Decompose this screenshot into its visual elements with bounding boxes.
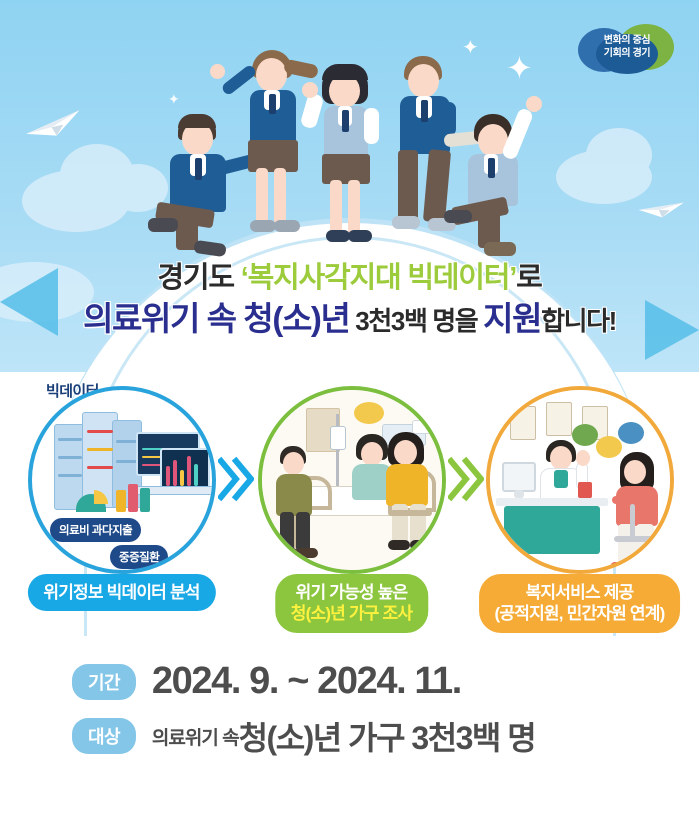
headline-line-2: 의료위기 속 청(소)년 3천3백 명을 지원합니다! xyxy=(0,299,699,339)
step-2-caption-line-1: 위기 가능성 높은 xyxy=(291,582,412,603)
headline-l1-part-2: ‘복지사각지대 빅데이터’ xyxy=(241,262,516,294)
cloud-right-icon xyxy=(556,150,652,204)
target-value-main: 청(소)년 가구 3천3백 명 xyxy=(239,713,536,759)
headline-l1-part-3: 로 xyxy=(516,262,541,294)
target-value-prefix: 의료위기 속 xyxy=(152,723,239,750)
headline-l2-part-2: 3천3백 명을 xyxy=(349,306,483,336)
headline: 경기도 ‘복지사각지대 빅데이터’로 의료위기 속 청(소)년 3천3백 명을 … xyxy=(0,262,699,339)
step-3-caption-line-2: (공적지원, 민간자원 연계) xyxy=(495,603,665,624)
students-illustration xyxy=(140,36,570,268)
poster-root: ✦ ✦ ✦ 변화의 중심 기회의 경기 xyxy=(0,0,699,826)
step-2-illustration xyxy=(258,386,446,574)
logo-line-1: 변화의 중심 xyxy=(578,34,676,47)
chevron-right-green-icon xyxy=(448,456,484,502)
step-3-illustration xyxy=(486,386,674,574)
step-2-caption-line-2: 청(소)년 가구 조사 xyxy=(291,603,412,624)
headline-line-1: 경기도 ‘복지사각지대 빅데이터’로 xyxy=(0,262,699,295)
info-row-target: 대상 의료위기 속 청(소)년 가구 3천3백 명 xyxy=(0,713,699,759)
chevron-right-blue-icon xyxy=(218,456,254,502)
period-value: 2024. 9. ~ 2024. 11. xyxy=(152,660,461,703)
headline-l2-part-3: 지원 xyxy=(483,300,541,337)
info-section: 기간 2024. 9. ~ 2024. 11. 대상 의료위기 속 청(소)년 … xyxy=(0,660,699,769)
process-steps: 빅데이터 xyxy=(0,378,699,628)
step-1-caption-line-1: 위기정보 빅데이터 분석 xyxy=(43,583,199,602)
target-badge: 대상 xyxy=(72,718,136,754)
step-1-tag-2: 중증질환 xyxy=(110,545,168,569)
info-row-period: 기간 2024. 9. ~ 2024. 11. xyxy=(0,660,699,703)
step-3-caption: 복지서비스 제공 (공적지원, 민간자원 연계) xyxy=(479,574,681,633)
headline-l1-part-1: 경기도 xyxy=(157,262,240,294)
period-badge: 기간 xyxy=(72,664,136,700)
step-1-illustration: 의료비 과다지출 중증질환 xyxy=(28,386,216,574)
cloud-left-icon xyxy=(22,170,130,232)
step-3-caption-line-1: 복지서비스 제공 xyxy=(495,582,665,603)
headline-l2-part-4: 합니다! xyxy=(541,306,616,336)
logo-text: 변화의 중심 기회의 경기 xyxy=(578,34,676,60)
headline-l2-part-1: 의료위기 속 청(소)년 xyxy=(83,300,349,337)
step-2-caption: 위기 가능성 높은 청(소)년 가구 조사 xyxy=(275,574,428,633)
logo-line-2: 기회의 경기 xyxy=(578,47,676,60)
gyeonggi-logo-badge: 변화의 중심 기회의 경기 xyxy=(578,24,676,76)
step-1-tag-1: 의료비 과다지출 xyxy=(50,518,141,542)
step-1-caption: 위기정보 빅데이터 분석 xyxy=(27,574,215,611)
